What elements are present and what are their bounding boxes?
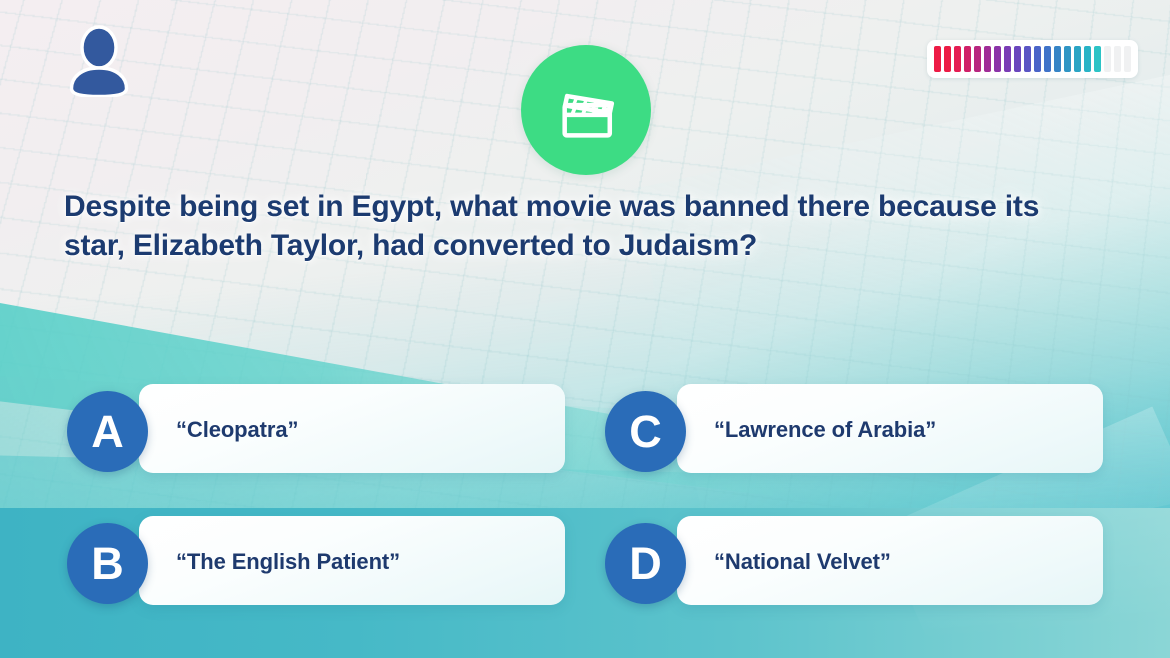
progress-segment-empty bbox=[1104, 46, 1111, 72]
progress-segment-empty bbox=[1114, 46, 1121, 72]
progress-segment-filled bbox=[1064, 46, 1071, 72]
progress-segment-filled bbox=[974, 46, 981, 72]
answer-option-d[interactable]: D “National Velvet” bbox=[605, 516, 1103, 607]
question-text: Despite being set in Egypt, what movie w… bbox=[64, 188, 1094, 265]
answer-label-d: “National Velvet” bbox=[714, 549, 891, 575]
answer-option-c[interactable]: C “Lawrence of Arabia” bbox=[605, 384, 1103, 475]
progress-segment-filled bbox=[1024, 46, 1031, 72]
quiz-slide: Despite being set in Egypt, what movie w… bbox=[0, 0, 1170, 658]
progress-segment-filled bbox=[1014, 46, 1021, 72]
progress-segment-filled bbox=[964, 46, 971, 72]
answer-label-a: “Cleopatra” bbox=[176, 417, 298, 443]
progress-segment-filled bbox=[1084, 46, 1091, 72]
progress-segment-filled bbox=[1094, 46, 1101, 72]
progress-segment-filled bbox=[1004, 46, 1011, 72]
user-avatar-icon[interactable] bbox=[67, 25, 131, 97]
answer-badge-d: D bbox=[605, 523, 686, 604]
answer-option-b[interactable]: B “The English Patient” bbox=[67, 516, 565, 607]
progress-segment-filled bbox=[944, 46, 951, 72]
quiz-progress-bar bbox=[927, 40, 1138, 78]
progress-segment-filled bbox=[994, 46, 1001, 72]
answer-options-grid: A “Cleopatra” C “Lawrence of Arabia” B “… bbox=[67, 384, 1103, 607]
progress-segment-filled bbox=[954, 46, 961, 72]
progress-segment-filled bbox=[984, 46, 991, 72]
progress-segment-filled bbox=[1034, 46, 1041, 72]
answer-badge-b: B bbox=[67, 523, 148, 604]
answer-badge-a: A bbox=[67, 391, 148, 472]
answer-badge-c: C bbox=[605, 391, 686, 472]
progress-segment-filled bbox=[934, 46, 941, 72]
answer-label-b: “The English Patient” bbox=[176, 549, 400, 575]
answer-label-c: “Lawrence of Arabia” bbox=[714, 417, 936, 443]
progress-segment-filled bbox=[1054, 46, 1061, 72]
movie-clapperboard-icon bbox=[521, 45, 651, 175]
progress-segment-filled bbox=[1074, 46, 1081, 72]
progress-segment-filled bbox=[1044, 46, 1051, 72]
answer-option-a[interactable]: A “Cleopatra” bbox=[67, 384, 565, 475]
progress-segment-empty bbox=[1124, 46, 1131, 72]
